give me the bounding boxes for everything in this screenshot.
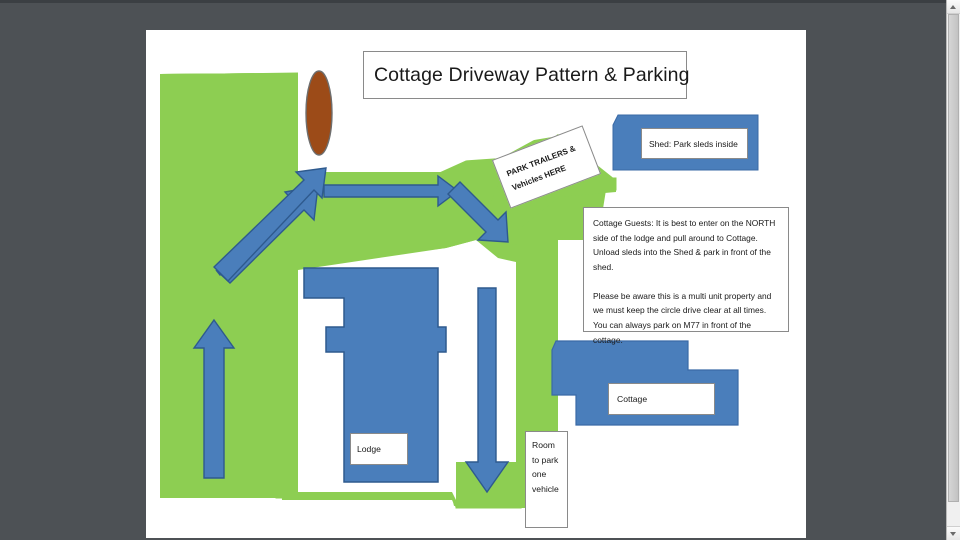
guest-instructions-box: Cottage Guests: It is best to enter on t…: [583, 207, 789, 332]
document-page: Cottage Driveway Pattern & Parking Shed:…: [146, 30, 806, 538]
room-to-park-line-4: vehicle: [532, 482, 567, 497]
page-title: Cottage Driveway Pattern & Parking: [363, 51, 687, 99]
shed-label: Shed: Park sleds inside: [641, 128, 748, 159]
room-to-park-line-1: Room: [532, 438, 567, 453]
room-to-park-line-3: one: [532, 467, 567, 482]
lodge-label: Lodge: [350, 433, 408, 465]
room-to-park-label: Room to park one vehicle: [525, 431, 568, 528]
app-window: Cottage Driveway Pattern & Parking Shed:…: [0, 0, 960, 540]
scrollbar-up-button[interactable]: [947, 0, 960, 14]
window-top-edge: [0, 0, 946, 3]
scroll-down-arrow-icon: [950, 532, 956, 536]
scrollbar-thumb[interactable]: [948, 14, 959, 502]
scroll-up-arrow-icon: [950, 5, 956, 9]
guest-instructions-paragraph-1: Cottage Guests: It is best to enter on t…: [593, 216, 779, 274]
cottage-label: Cottage: [608, 383, 715, 415]
guest-instructions-paragraph-2: Please be aware this is a multi unit pro…: [593, 289, 779, 347]
room-to-park-line-2: to park: [532, 453, 567, 468]
scrollbar-down-button[interactable]: [947, 526, 960, 540]
vertical-scrollbar[interactable]: [946, 0, 960, 540]
tree-ellipse: [306, 71, 332, 155]
